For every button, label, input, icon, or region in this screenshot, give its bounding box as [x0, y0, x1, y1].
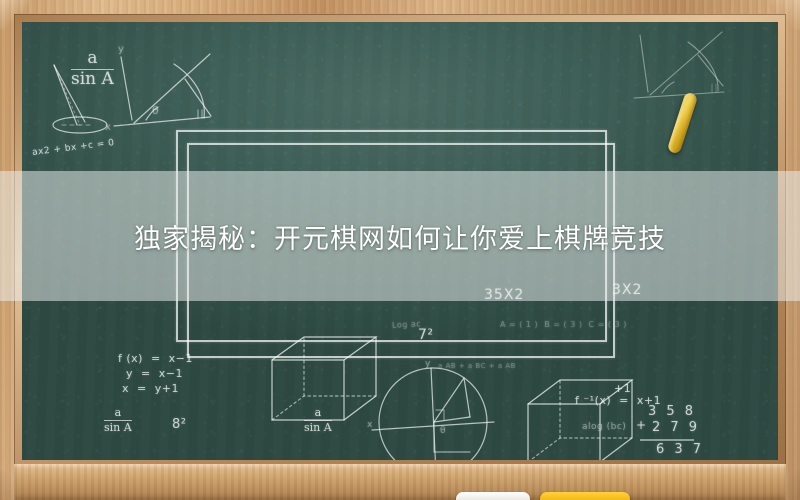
yellow-chalk-on-board [667, 92, 699, 155]
circle-axis-y [431, 368, 436, 460]
angle-label-theta-topleft: θ [152, 104, 159, 117]
circle-radius-2 [434, 417, 470, 422]
circle-chord [464, 378, 470, 417]
formula-fx-line1: f (x) = x−1 [118, 352, 193, 365]
formula-fx-line3: x = y+1 [122, 382, 179, 395]
axis-label-x-topleft: x [105, 122, 111, 133]
angle-diagram-right [634, 32, 724, 98]
formula-plus-one-partial: +1 [614, 382, 631, 395]
fraction-bar [104, 420, 132, 421]
cone-right-edge [54, 65, 85, 122]
fraction-bar [304, 420, 332, 421]
formula-quadratic: ax2 + bx +c = 0 [32, 138, 115, 158]
angle-label-theta-right: θ [440, 426, 446, 436]
angle-tick-topleft [198, 110, 202, 118]
formula-fx-line2: y = x−1 [126, 367, 183, 380]
addition-row-1: 3 5 8 [648, 404, 696, 419]
formula-eight-squared: 8² [172, 417, 186, 432]
axis-label-y-topleft: y [118, 44, 124, 55]
fraction-bar [71, 69, 114, 70]
cone-left-edge [54, 65, 77, 125]
circle-right-angle-mark [436, 410, 444, 420]
axis-label-y-circle: y [425, 359, 431, 369]
fraction-numerator: a [104, 407, 132, 419]
axis-label-x-circle: x [367, 420, 373, 430]
addition-plus-sign: + [636, 418, 647, 432]
angle-small-arc-topleft [146, 107, 158, 120]
unit-circle-diagram [372, 368, 494, 460]
white-chalk-stick [456, 492, 530, 500]
fraction-denominator: sin A [71, 71, 114, 89]
chalk-tray [14, 464, 786, 500]
addition-row-2: 2 7 9 [652, 420, 700, 435]
angle-ray-topleft [134, 54, 210, 123]
title-overlay-banner: 独家揭秘：开元棋网如何让你爱上棋牌竞技 [0, 171, 800, 301]
circle-axis-x [372, 422, 494, 430]
cube-right-wireframe [528, 380, 632, 460]
fraction-denominator: sin A [304, 422, 332, 434]
cone-base-ellipse [53, 117, 107, 133]
angle-arc-topleft [174, 64, 204, 118]
formula-inverse-fx: f ⁻¹(x) = x+1 [575, 394, 661, 407]
formula-log-abc: alog (bc) [582, 422, 626, 432]
formula-dot-product: a AB + a BC + a AB [438, 362, 516, 370]
fraction-a-sin-a-topleft: a sin A [71, 50, 114, 89]
yellow-chalk-stick [540, 492, 630, 500]
fraction-a-sin-a-bottom2: a sin A [304, 407, 332, 433]
axis-y-line-topleft [121, 57, 132, 120]
circle-right-angle [434, 422, 470, 452]
fraction-a-sin-a-bottom1: a sin A [104, 407, 132, 433]
fraction-denominator: sin A [104, 422, 132, 434]
addition-sum: 6 3 7 [656, 442, 704, 457]
axis-x-line-topleft [114, 117, 210, 126]
fraction-numerator: a [304, 407, 332, 419]
page-title: 独家揭秘：开元棋网如何让你爱上棋牌竞技 [134, 217, 666, 256]
fraction-numerator: a [71, 50, 114, 68]
circle-radius-1 [434, 378, 464, 422]
chalkboard-image: a sin A ax2 + bx +c = 0 y x θ f (x) = x−… [0, 0, 800, 500]
cone-axis [54, 65, 80, 125]
angle-second-ray-topleft [185, 79, 211, 116]
